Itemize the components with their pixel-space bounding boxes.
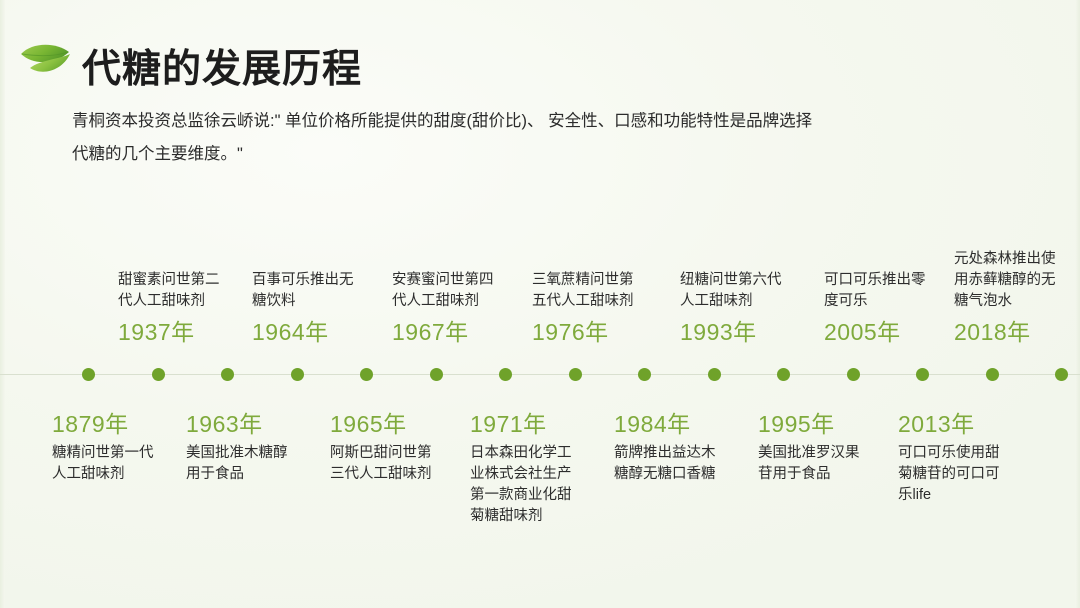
timeline-dot (638, 368, 651, 381)
timeline-entry-year: 2013年 (898, 408, 1010, 440)
timeline-entry-description: 元处森林推出使用赤藓糖醇的无糖气泡水 (954, 249, 1066, 312)
timeline-dot (152, 368, 165, 381)
timeline-dot (847, 368, 860, 381)
timeline-entry-description: 可口可乐使用甜菊糖苷的可口可乐life (898, 443, 1010, 506)
subtitle-line-1: 青桐资本投资总监徐云峤说:" 单位价格所能提供的甜度(甜价比)、 安全性、口感和… (72, 105, 1012, 138)
timeline-entry-year: 1879年 (52, 408, 164, 440)
timeline-entry-year: 1995年 (758, 408, 870, 440)
page-title: 代糖的发展历程 (82, 38, 362, 94)
page-subtitle: 青桐资本投资总监徐云峤说:" 单位价格所能提供的甜度(甜价比)、 安全性、口感和… (72, 105, 1012, 171)
timeline-entry: 1879年糖精问世第一代人工甜味剂 (52, 408, 164, 485)
timeline-entry: 安赛蜜问世第四代人工甜味剂1967年 (392, 270, 504, 348)
timeline-entry-year: 1971年 (470, 408, 582, 440)
timeline-entry-year: 2018年 (954, 316, 1066, 348)
timeline-dot (82, 368, 95, 381)
timeline-entry: 可口可乐推出零度可乐2005年 (824, 270, 936, 348)
timeline-entry: 1995年美国批准罗汉果苷用于食品 (758, 408, 870, 485)
timeline-dot (986, 368, 999, 381)
timeline-dot (569, 368, 582, 381)
timeline-dot (777, 368, 790, 381)
timeline-dot (291, 368, 304, 381)
slide-root: 代糖的发展历程 青桐资本投资总监徐云峤说:" 单位价格所能提供的甜度(甜价比)、… (0, 0, 1080, 608)
timeline-entry-description: 日本森田化学工业株式会社生产第一款商业化甜菊糖甜味剂 (470, 443, 582, 527)
timeline-entry-description: 美国批准木糖醇用于食品 (186, 443, 298, 485)
timeline-entry: 1984年箭牌推出益达木糖醇无糖口香糖 (614, 408, 726, 485)
timeline-entry: 甜蜜素问世第二代人工甜味剂1937年 (118, 270, 230, 348)
timeline-entry-year: 1984年 (614, 408, 726, 440)
timeline-bottom-row: 1879年糖精问世第一代人工甜味剂1963年美国批准木糖醇用于食品1965年阿斯… (0, 408, 1080, 558)
timeline-dot (916, 368, 929, 381)
timeline-top-row: 甜蜜素问世第二代人工甜味剂1937年百事可乐推出无糖饮料1964年安赛蜜问世第四… (0, 236, 1080, 348)
timeline-entry-year: 1964年 (252, 316, 364, 348)
timeline-dot (430, 368, 443, 381)
timeline-entry: 纽糖问世第六代人工甜味剂1993年 (680, 270, 792, 348)
timeline-entry-description: 三氧蔗精问世第五代人工甜味剂 (532, 270, 644, 312)
leaf-icon (18, 40, 74, 82)
timeline-entry: 1965年阿斯巴甜问世第三代人工甜味剂 (330, 408, 442, 485)
timeline-entry-description: 美国批准罗汉果苷用于食品 (758, 443, 870, 485)
timeline-entry-year: 1993年 (680, 316, 792, 348)
timeline-dot (360, 368, 373, 381)
timeline-entry: 百事可乐推出无糖饮料1964年 (252, 270, 364, 348)
timeline-entry: 三氧蔗精问世第五代人工甜味剂1976年 (532, 270, 644, 348)
timeline-entry-description: 安赛蜜问世第四代人工甜味剂 (392, 270, 504, 312)
timeline-entry-year: 1976年 (532, 316, 644, 348)
timeline-entry-year: 1965年 (330, 408, 442, 440)
timeline-entry-year: 1937年 (118, 316, 230, 348)
timeline-entry-year: 2005年 (824, 316, 936, 348)
subtitle-line-2: 代糖的几个主要维度。" (72, 138, 1012, 171)
timeline-entry-year: 1967年 (392, 316, 504, 348)
timeline-entry: 1971年日本森田化学工业株式会社生产第一款商业化甜菊糖甜味剂 (470, 408, 582, 527)
timeline-dot (499, 368, 512, 381)
timeline-dot (1055, 368, 1068, 381)
timeline-entry-description: 阿斯巴甜问世第三代人工甜味剂 (330, 443, 442, 485)
timeline-entry-description: 百事可乐推出无糖饮料 (252, 270, 364, 312)
timeline-entry-description: 箭牌推出益达木糖醇无糖口香糖 (614, 443, 726, 485)
timeline-dot (708, 368, 721, 381)
timeline-entry: 2013年可口可乐使用甜菊糖苷的可口可乐life (898, 408, 1010, 506)
timeline-dot (221, 368, 234, 381)
timeline-entry-description: 纽糖问世第六代人工甜味剂 (680, 270, 792, 312)
timeline-entry-year: 1963年 (186, 408, 298, 440)
timeline-entry-description: 甜蜜素问世第二代人工甜味剂 (118, 270, 230, 312)
timeline-entry-description: 可口可乐推出零度可乐 (824, 270, 936, 312)
timeline-entry: 1963年美国批准木糖醇用于食品 (186, 408, 298, 485)
timeline-entry-description: 糖精问世第一代人工甜味剂 (52, 443, 164, 485)
timeline-entry: 元处森林推出使用赤藓糖醇的无糖气泡水2018年 (954, 249, 1066, 348)
